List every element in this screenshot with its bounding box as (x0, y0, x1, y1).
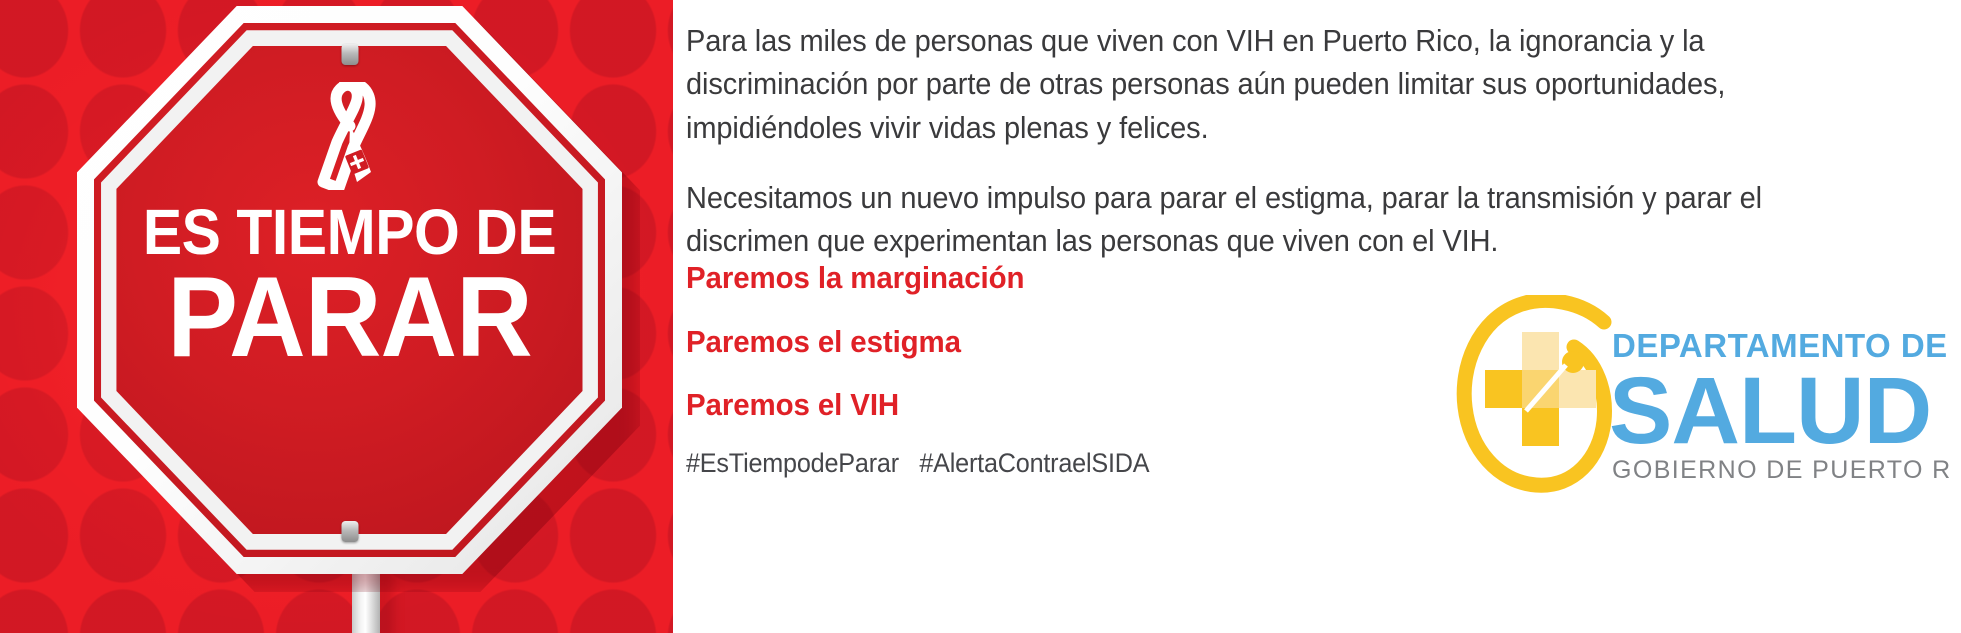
stop-sign-headline-line1: ES TIEMPO DE (99, 202, 600, 262)
stop-sign: ES TIEMPO DE PARAR (77, 6, 622, 574)
logo-line-3: GOBIERNO DE PUERTO RICO (1612, 456, 1951, 484)
hashtags: #EsTiempodeParar #AlertaContraelSIDA (686, 448, 1149, 479)
left-red-panel: ES TIEMPO DE PARAR (0, 0, 673, 633)
stop-sign-headline: ES TIEMPO DE PARAR (77, 202, 622, 371)
aids-awareness-ribbon-icon (313, 82, 387, 190)
callout-estigma: Paremos el estigma (686, 326, 1024, 359)
campaign-banner: ES TIEMPO DE PARAR Para las miles de per… (0, 0, 1961, 633)
paragraph-2: Necesitamos un nuevo impulso para parar … (686, 177, 1826, 264)
panel-divider (673, 0, 675, 633)
callout-list: Paremos la marginación Paremos el estigm… (686, 262, 1042, 453)
stop-sign-headline-line2: PARAR (96, 264, 603, 371)
right-content-panel: Para las miles de personas que viven con… (673, 0, 1961, 633)
body-copy: Para las miles de personas que viven con… (686, 20, 1886, 290)
paragraph-1: Para las miles de personas que viven con… (686, 20, 1826, 150)
departamento-de-salud-logo: DEPARTAMENTO DE SALUD GOBIERNO DE PUERTO… (1454, 295, 1951, 495)
callout-vih: Paremos el VIH (686, 389, 1024, 422)
stop-sign-bolt-top (341, 44, 358, 65)
stop-sign-bolt-bottom (341, 521, 358, 542)
logo-line-2: SALUD (1609, 358, 1931, 464)
callout-marginacion: Paremos la marginación (686, 262, 1024, 295)
